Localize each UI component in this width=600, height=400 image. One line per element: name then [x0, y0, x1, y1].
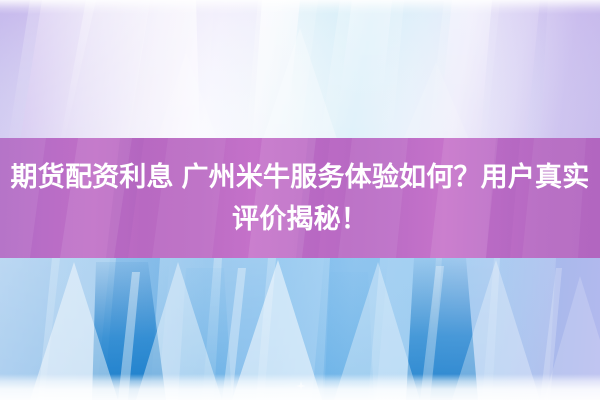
promo-poster: 期货配资利息 广州米牛服务体验如何？用户真实评价揭秘！ [0, 0, 600, 400]
headline-banner: 期货配资利息 广州米牛服务体验如何？用户真实评价揭秘！ [0, 138, 600, 258]
page-title: 期货配资利息 广州米牛服务体验如何？用户真实评价揭秘！ [0, 156, 600, 240]
headline-line-2: 价揭秘！ [259, 204, 368, 234]
